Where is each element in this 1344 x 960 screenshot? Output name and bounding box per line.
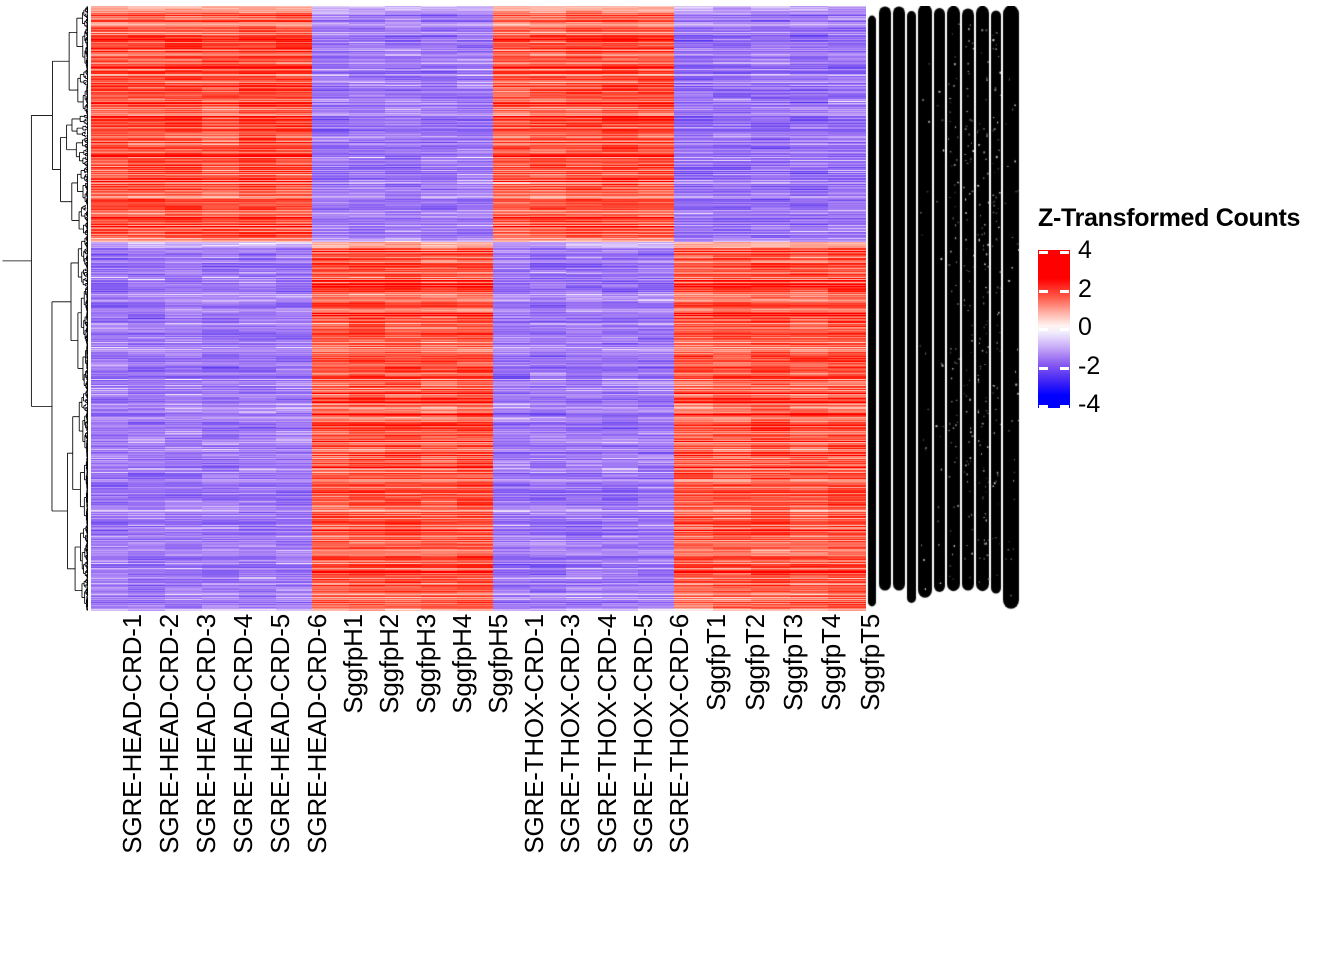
column-label-axis: SGRE-HEAD-CRD-1SGRE-HEAD-CRD-2SGRE-HEAD-… [91, 614, 866, 954]
legend: Z-Transformed Counts 420-2-4 [1034, 204, 1334, 419]
column-label: SGRE-THOX-CRD-1 [521, 614, 547, 854]
legend-tick-label: 4 [1078, 238, 1092, 263]
row-label-canvas [866, 6, 1024, 620]
legend-tick-right [1060, 405, 1069, 408]
heatmap-figure: SGRE-HEAD-CRD-1SGRE-HEAD-CRD-2SGRE-HEAD-… [0, 0, 1344, 960]
column-label: SGRE-HEAD-CRD-2 [156, 614, 182, 854]
legend-tick-left [1039, 251, 1048, 254]
legend-tick-label: 0 [1078, 315, 1092, 340]
column-label: SggfpT5 [857, 614, 883, 711]
row-dendrogram [2, 6, 88, 611]
column-label: SGRE-HEAD-CRD-4 [230, 614, 256, 854]
legend-tick-right [1060, 251, 1069, 254]
column-label: SggfpH2 [376, 614, 402, 714]
legend-tick-left [1039, 367, 1048, 370]
legend-colorbar-wrap [1038, 250, 1070, 408]
column-label: SGRE-HEAD-CRD-1 [119, 614, 145, 854]
column-label: SggfpH1 [340, 614, 366, 714]
legend-title: Z-Transformed Counts [1038, 204, 1300, 233]
row-dendrogram-svg [2, 6, 88, 611]
column-label: SggfpT1 [703, 614, 729, 711]
heatmap-panel [91, 6, 866, 611]
column-label: SggfpT3 [780, 614, 806, 711]
column-label: SggfpH4 [449, 614, 475, 714]
column-label: SGRE-THOX-CRD-6 [666, 614, 692, 854]
column-label: SggfpT4 [818, 614, 844, 711]
legend-tick-left [1039, 290, 1048, 293]
column-label: SGRE-THOX-CRD-5 [630, 614, 656, 854]
column-label: SGRE-HEAD-CRD-5 [267, 614, 293, 854]
legend-tick-left [1039, 328, 1048, 331]
legend-tick-label: -2 [1078, 354, 1100, 379]
column-label: SGRE-THOX-CRD-4 [594, 614, 620, 854]
dendrogram-branches [3, 7, 89, 610]
column-label: SGRE-HEAD-CRD-3 [193, 614, 219, 854]
legend-tick-label: -4 [1078, 392, 1100, 417]
column-label: SggfpT2 [742, 614, 768, 711]
legend-tick-right [1060, 290, 1069, 293]
legend-tick-right [1060, 367, 1069, 370]
legend-tick-right [1060, 328, 1069, 331]
legend-tick-left [1039, 405, 1048, 408]
column-label: SGRE-THOX-CRD-3 [557, 614, 583, 854]
row-label-block [866, 6, 1024, 620]
heatmap-cells [91, 6, 866, 611]
column-label: SGRE-HEAD-CRD-6 [304, 614, 330, 854]
column-label: SggfpH5 [485, 614, 511, 714]
column-label: SggfpH3 [413, 614, 439, 714]
legend-tick-label: 2 [1078, 277, 1092, 302]
